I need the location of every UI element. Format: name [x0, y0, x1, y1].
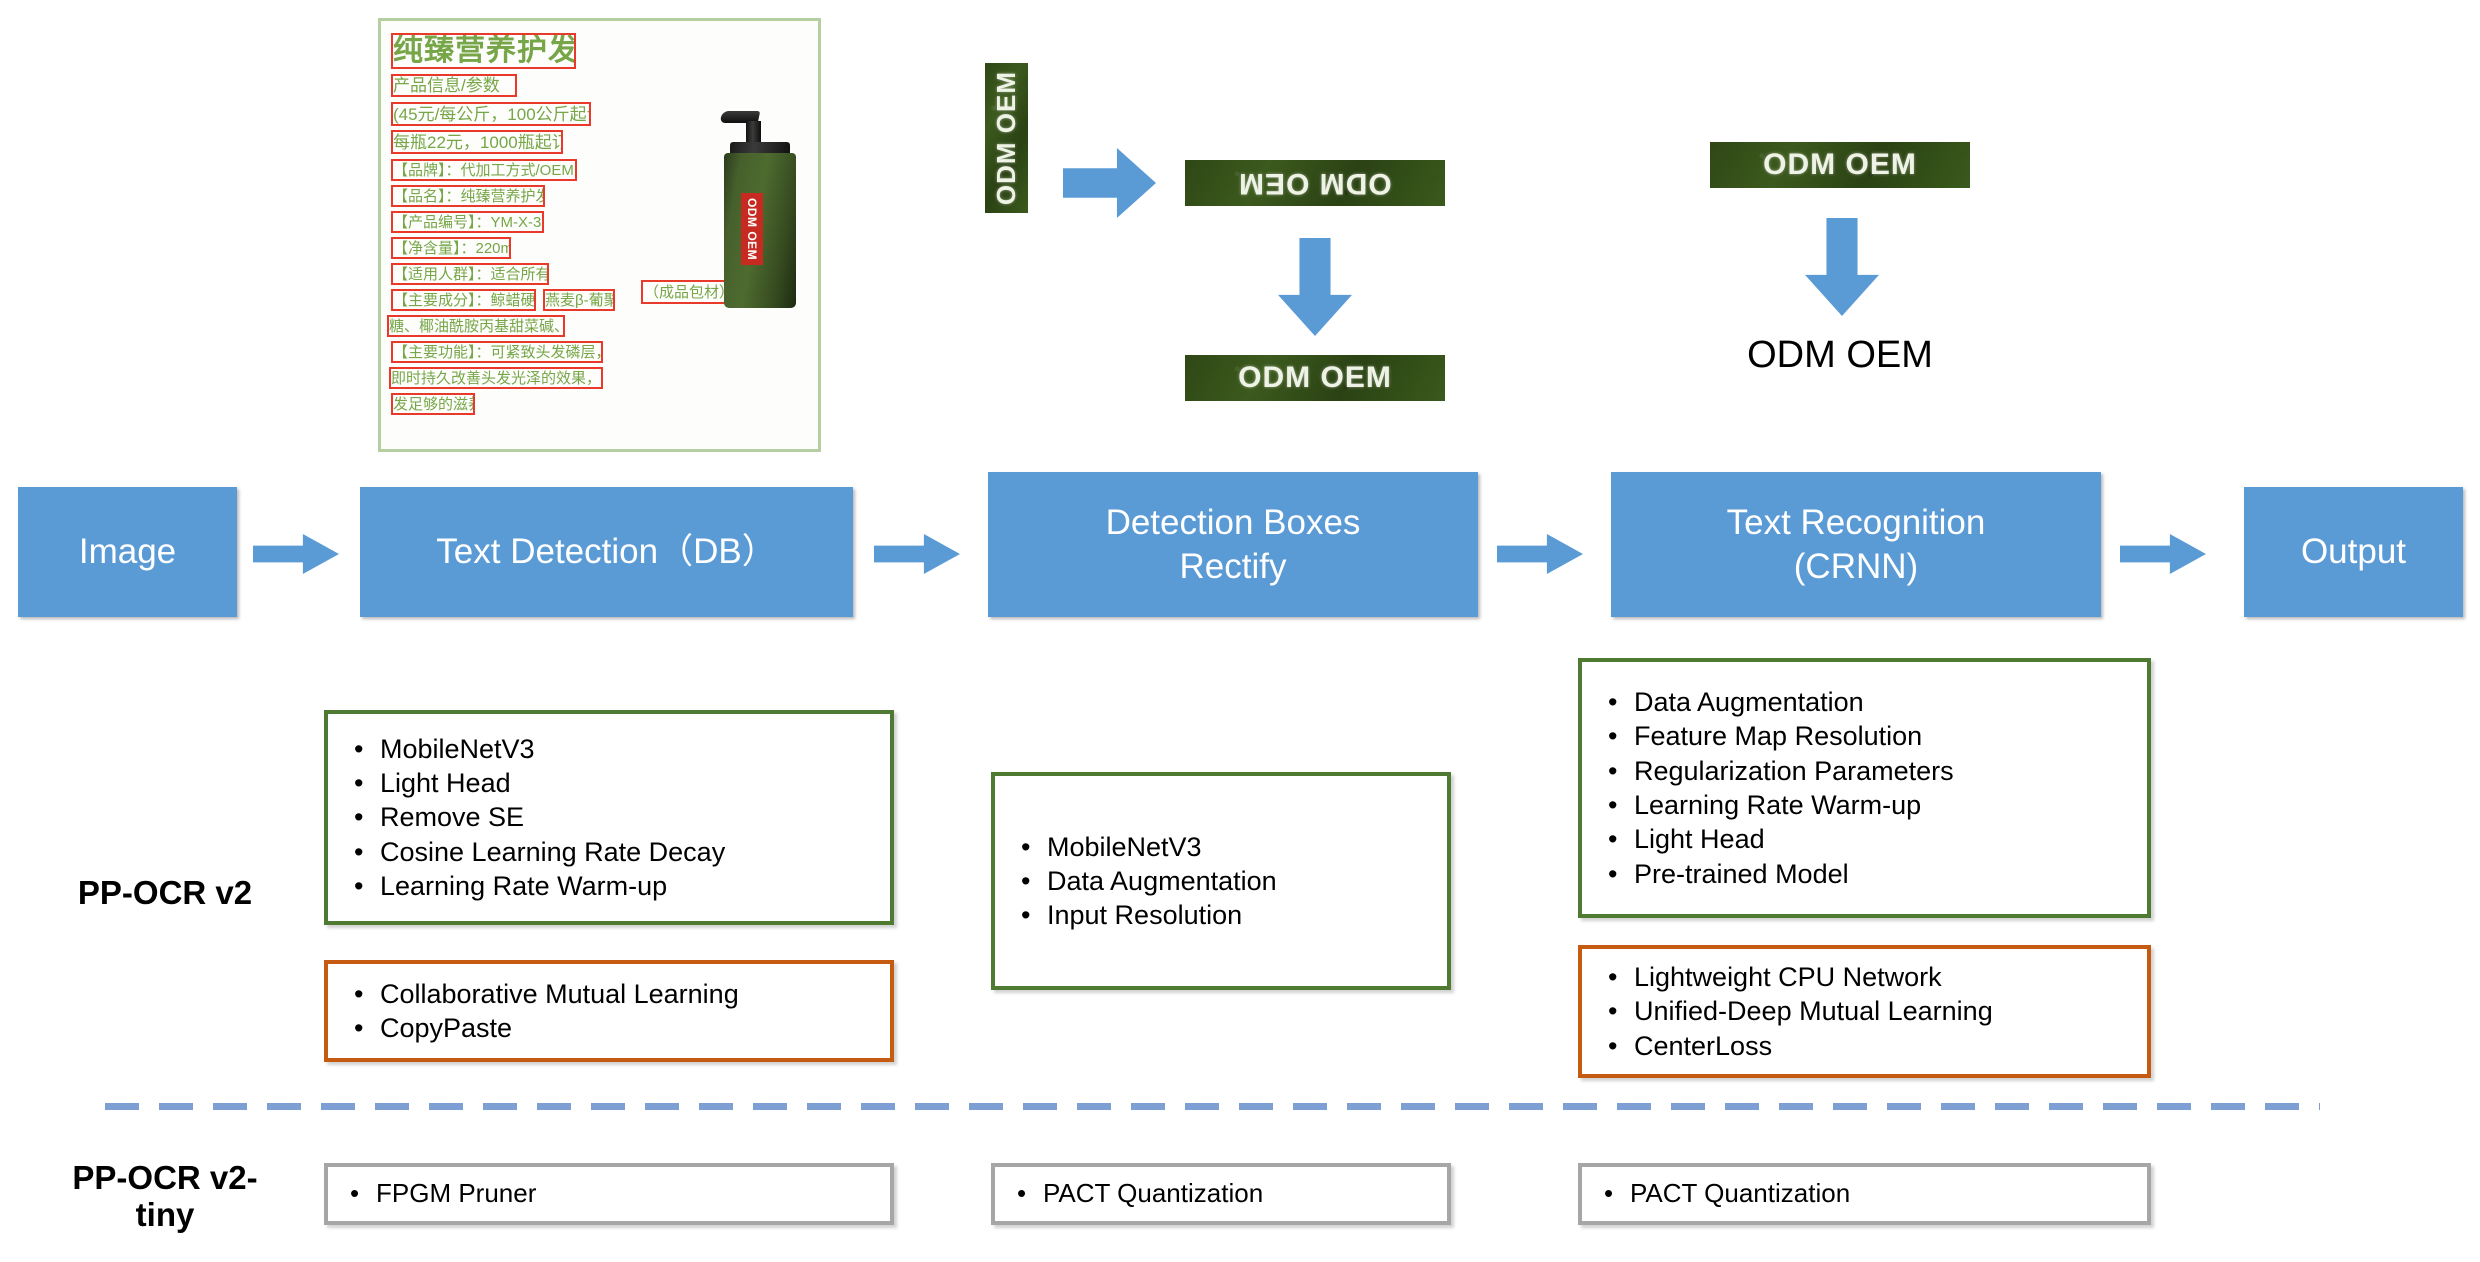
detection-box: 发足够的滋养	[391, 393, 475, 415]
crop-recognition-input: ODM OEM	[1710, 142, 1970, 188]
feature-item-label: Pre-trained Model	[1634, 857, 1849, 891]
feature-item: •Input Resolution	[1021, 898, 1447, 932]
feature-box-detection-green: •MobileNetV3 •Light Head •Remove SE •Cos…	[324, 710, 894, 925]
pipeline-stage-image[interactable]: Image	[18, 487, 237, 617]
crop-rectified-text: ODM OEM	[1238, 361, 1392, 395]
feature-item-label: Light Head	[380, 766, 511, 800]
feature-item-label: Light Head	[1634, 822, 1765, 856]
feature-item-label: MobileNetV3	[380, 732, 535, 766]
bullet-icon: •	[1021, 864, 1047, 898]
feature-item-label: CopyPaste	[380, 1011, 512, 1045]
feature-box-tiny-detection-gray: •FPGM Pruner	[324, 1163, 894, 1225]
feature-item: •Feature Map Resolution	[1608, 719, 2147, 753]
detection-box: 燕麦β-葡聚	[543, 289, 615, 311]
feature-item-label: PACT Quantization	[1630, 1177, 1850, 1210]
detection-box: 【主要成分】：鲸蜡硬脂醇	[391, 289, 536, 311]
feature-item: •Light Head	[354, 766, 890, 800]
rectify-arrow-down-icon	[1278, 238, 1352, 336]
feature-item: •Pre-trained Model	[1608, 857, 2147, 891]
pipeline-stage-text-detection[interactable]: Text Detection（DB）	[360, 487, 853, 617]
bullet-icon: •	[1608, 1029, 1634, 1063]
bottle-label-text: ODM OEM	[745, 198, 759, 260]
feature-item-label: Cosine Learning Rate Decay	[380, 835, 725, 869]
pipeline-stage-label: Output	[2301, 530, 2406, 574]
bullet-icon: •	[1021, 898, 1047, 932]
product-bottle-illustration: ODM OEM	[710, 95, 810, 310]
crop-rectified-odm-oem: ODM OEM	[1185, 355, 1445, 401]
feature-item-label: MobileNetV3	[1047, 830, 1202, 864]
pipeline-stage-text-recognition[interactable]: Text Recognition (CRNN)	[1611, 472, 2101, 617]
feature-item-label: Data Augmentation	[1634, 685, 1864, 719]
crop-vertical-odm-oem: ODM OEM	[985, 63, 1028, 213]
detection-box: 糖、椰油酰胺丙基甜菜碱、泛醌	[387, 315, 565, 337]
feature-item-label: Input Resolution	[1047, 898, 1242, 932]
feature-item: •PACT Quantization	[1017, 1177, 1447, 1210]
crop-vertical-text: ODM OEM	[991, 71, 1022, 205]
feature-item-label: Data Augmentation	[1047, 864, 1277, 898]
feature-item-label: PACT Quantization	[1043, 1177, 1263, 1210]
feature-item-label: Lightweight CPU Network	[1634, 960, 1942, 994]
bullet-icon: •	[1608, 788, 1634, 822]
feature-item: •FPGM Pruner	[350, 1177, 890, 1210]
feature-item: •Collaborative Mutual Learning	[354, 977, 890, 1011]
bullet-icon: •	[1608, 857, 1634, 891]
feature-item: •Remove SE	[354, 800, 890, 834]
feature-item: •Regularization Parameters	[1608, 754, 2147, 788]
detection-box: 【品牌】：代加工方式/OEM ODM	[391, 159, 577, 181]
feature-item: •Learning Rate Warm-up	[1608, 788, 2147, 822]
bullet-icon: •	[1608, 960, 1634, 994]
rectify-arrow-right-icon	[1063, 148, 1156, 218]
detection-box: 纯臻营养护发素	[391, 33, 576, 69]
pipeline-arrow-1-icon	[253, 534, 339, 574]
recognition-arrow-down-icon	[1805, 218, 1879, 316]
feature-item-label: CenterLoss	[1634, 1029, 1772, 1063]
bullet-icon: •	[354, 766, 380, 800]
bullet-icon: •	[1017, 1177, 1043, 1210]
crop-flipped-odm-oem: ODM OEM	[1185, 160, 1445, 206]
feature-box-rectify-green: •MobileNetV3 •Data Augmentation •Input R…	[991, 772, 1451, 990]
detection-box: 【净含量】：220ml	[391, 237, 511, 259]
feature-item: •Data Augmentation	[1608, 685, 2147, 719]
bullet-icon: •	[1608, 685, 1634, 719]
bullet-icon: •	[1608, 822, 1634, 856]
feature-box-recognition-green: •Data Augmentation •Feature Map Resoluti…	[1578, 658, 2151, 918]
feature-item: •Light Head	[1608, 822, 2147, 856]
feature-item-label: Unified-Deep Mutual Learning	[1634, 994, 1993, 1028]
detection-box: 【主要功能】：可紧致头发磷层，从而达到	[391, 341, 603, 363]
pipeline-arrow-3-icon	[1497, 534, 1583, 574]
detection-box: 即时持久改善头发光泽的效果，给干燥的头	[389, 367, 603, 389]
feature-item-label: FPGM Pruner	[376, 1177, 536, 1210]
feature-item: •PACT Quantization	[1604, 1177, 2147, 1210]
feature-item: •Lightweight CPU Network	[1608, 960, 2147, 994]
bottle-label: ODM OEM	[741, 193, 763, 265]
bullet-icon: •	[350, 1177, 376, 1210]
bullet-icon: •	[1604, 1177, 1630, 1210]
bullet-icon: •	[354, 835, 380, 869]
pipeline-stage-output[interactable]: Output	[2244, 487, 2463, 617]
pipeline-stage-label: Detection Boxes Rectify	[1106, 501, 1361, 589]
pipeline-stage-label: Text Detection（DB）	[436, 530, 776, 574]
feature-box-tiny-rectify-gray: •PACT Quantization	[991, 1163, 1451, 1225]
bullet-icon: •	[354, 869, 380, 903]
section-divider	[105, 1103, 2320, 1110]
feature-item-label: Regularization Parameters	[1634, 754, 1954, 788]
crop-recognition-input-text: ODM OEM	[1763, 148, 1917, 182]
feature-box-detection-orange: •Collaborative Mutual Learning •CopyPast…	[324, 960, 894, 1062]
feature-item-label: Feature Map Resolution	[1634, 719, 1922, 753]
detection-box: 【适用人群】：适合所有肤质	[391, 263, 549, 285]
feature-box-recognition-orange: •Lightweight CPU Network •Unified-Deep M…	[1578, 945, 2151, 1078]
feature-item: •MobileNetV3	[1021, 830, 1447, 864]
pipeline-stage-label: Text Recognition (CRNN)	[1727, 501, 1986, 589]
bullet-icon: •	[1608, 994, 1634, 1028]
feature-item: •CenterLoss	[1608, 1029, 2147, 1063]
feature-item-label: Learning Rate Warm-up	[1634, 788, 1921, 822]
feature-item: •Unified-Deep Mutual Learning	[1608, 994, 2147, 1028]
bullet-icon: •	[1021, 830, 1047, 864]
feature-box-tiny-recognition-gray: •PACT Quantization	[1578, 1163, 2151, 1225]
pipeline-arrow-2-icon	[874, 534, 960, 574]
bullet-icon: •	[354, 977, 380, 1011]
feature-item: •Learning Rate Warm-up	[354, 869, 890, 903]
bullet-icon: •	[354, 800, 380, 834]
bullet-icon: •	[354, 1011, 380, 1045]
feature-item-label: Collaborative Mutual Learning	[380, 977, 739, 1011]
feature-item-label: Learning Rate Warm-up	[380, 869, 667, 903]
detection-box: (45元/每公斤，100公斤起订）	[391, 102, 591, 126]
pipeline-stage-detection-boxes-rectify[interactable]: Detection Boxes Rectify	[988, 472, 1478, 617]
pipeline-arrow-4-icon	[2120, 534, 2206, 574]
recognition-output-text: ODM OEM	[1700, 330, 1980, 380]
pipeline-stage-label: Image	[79, 530, 176, 574]
feature-item: •Cosine Learning Rate Decay	[354, 835, 890, 869]
row-label-ppocr-v2-tiny: PP-OCR v2- tiny	[40, 1160, 290, 1234]
crop-flipped-text: ODM OEM	[1238, 166, 1392, 200]
feature-item: •MobileNetV3	[354, 732, 890, 766]
detection-box: 产品信息/参数	[391, 74, 517, 97]
bullet-icon: •	[1608, 754, 1634, 788]
bullet-icon: •	[354, 732, 380, 766]
detection-box: 【产品编号】：YM-X-3011	[391, 211, 544, 233]
feature-item: •CopyPaste	[354, 1011, 890, 1045]
detection-box: 【品名】：纯臻营养护发素	[391, 185, 545, 207]
row-label-ppocr-v2: PP-OCR v2	[40, 875, 290, 912]
bullet-icon: •	[1608, 719, 1634, 753]
feature-item-label: Remove SE	[380, 800, 524, 834]
detection-box: 每瓶22元，1000瓶起订）	[391, 130, 563, 154]
feature-item: •Data Augmentation	[1021, 864, 1447, 898]
